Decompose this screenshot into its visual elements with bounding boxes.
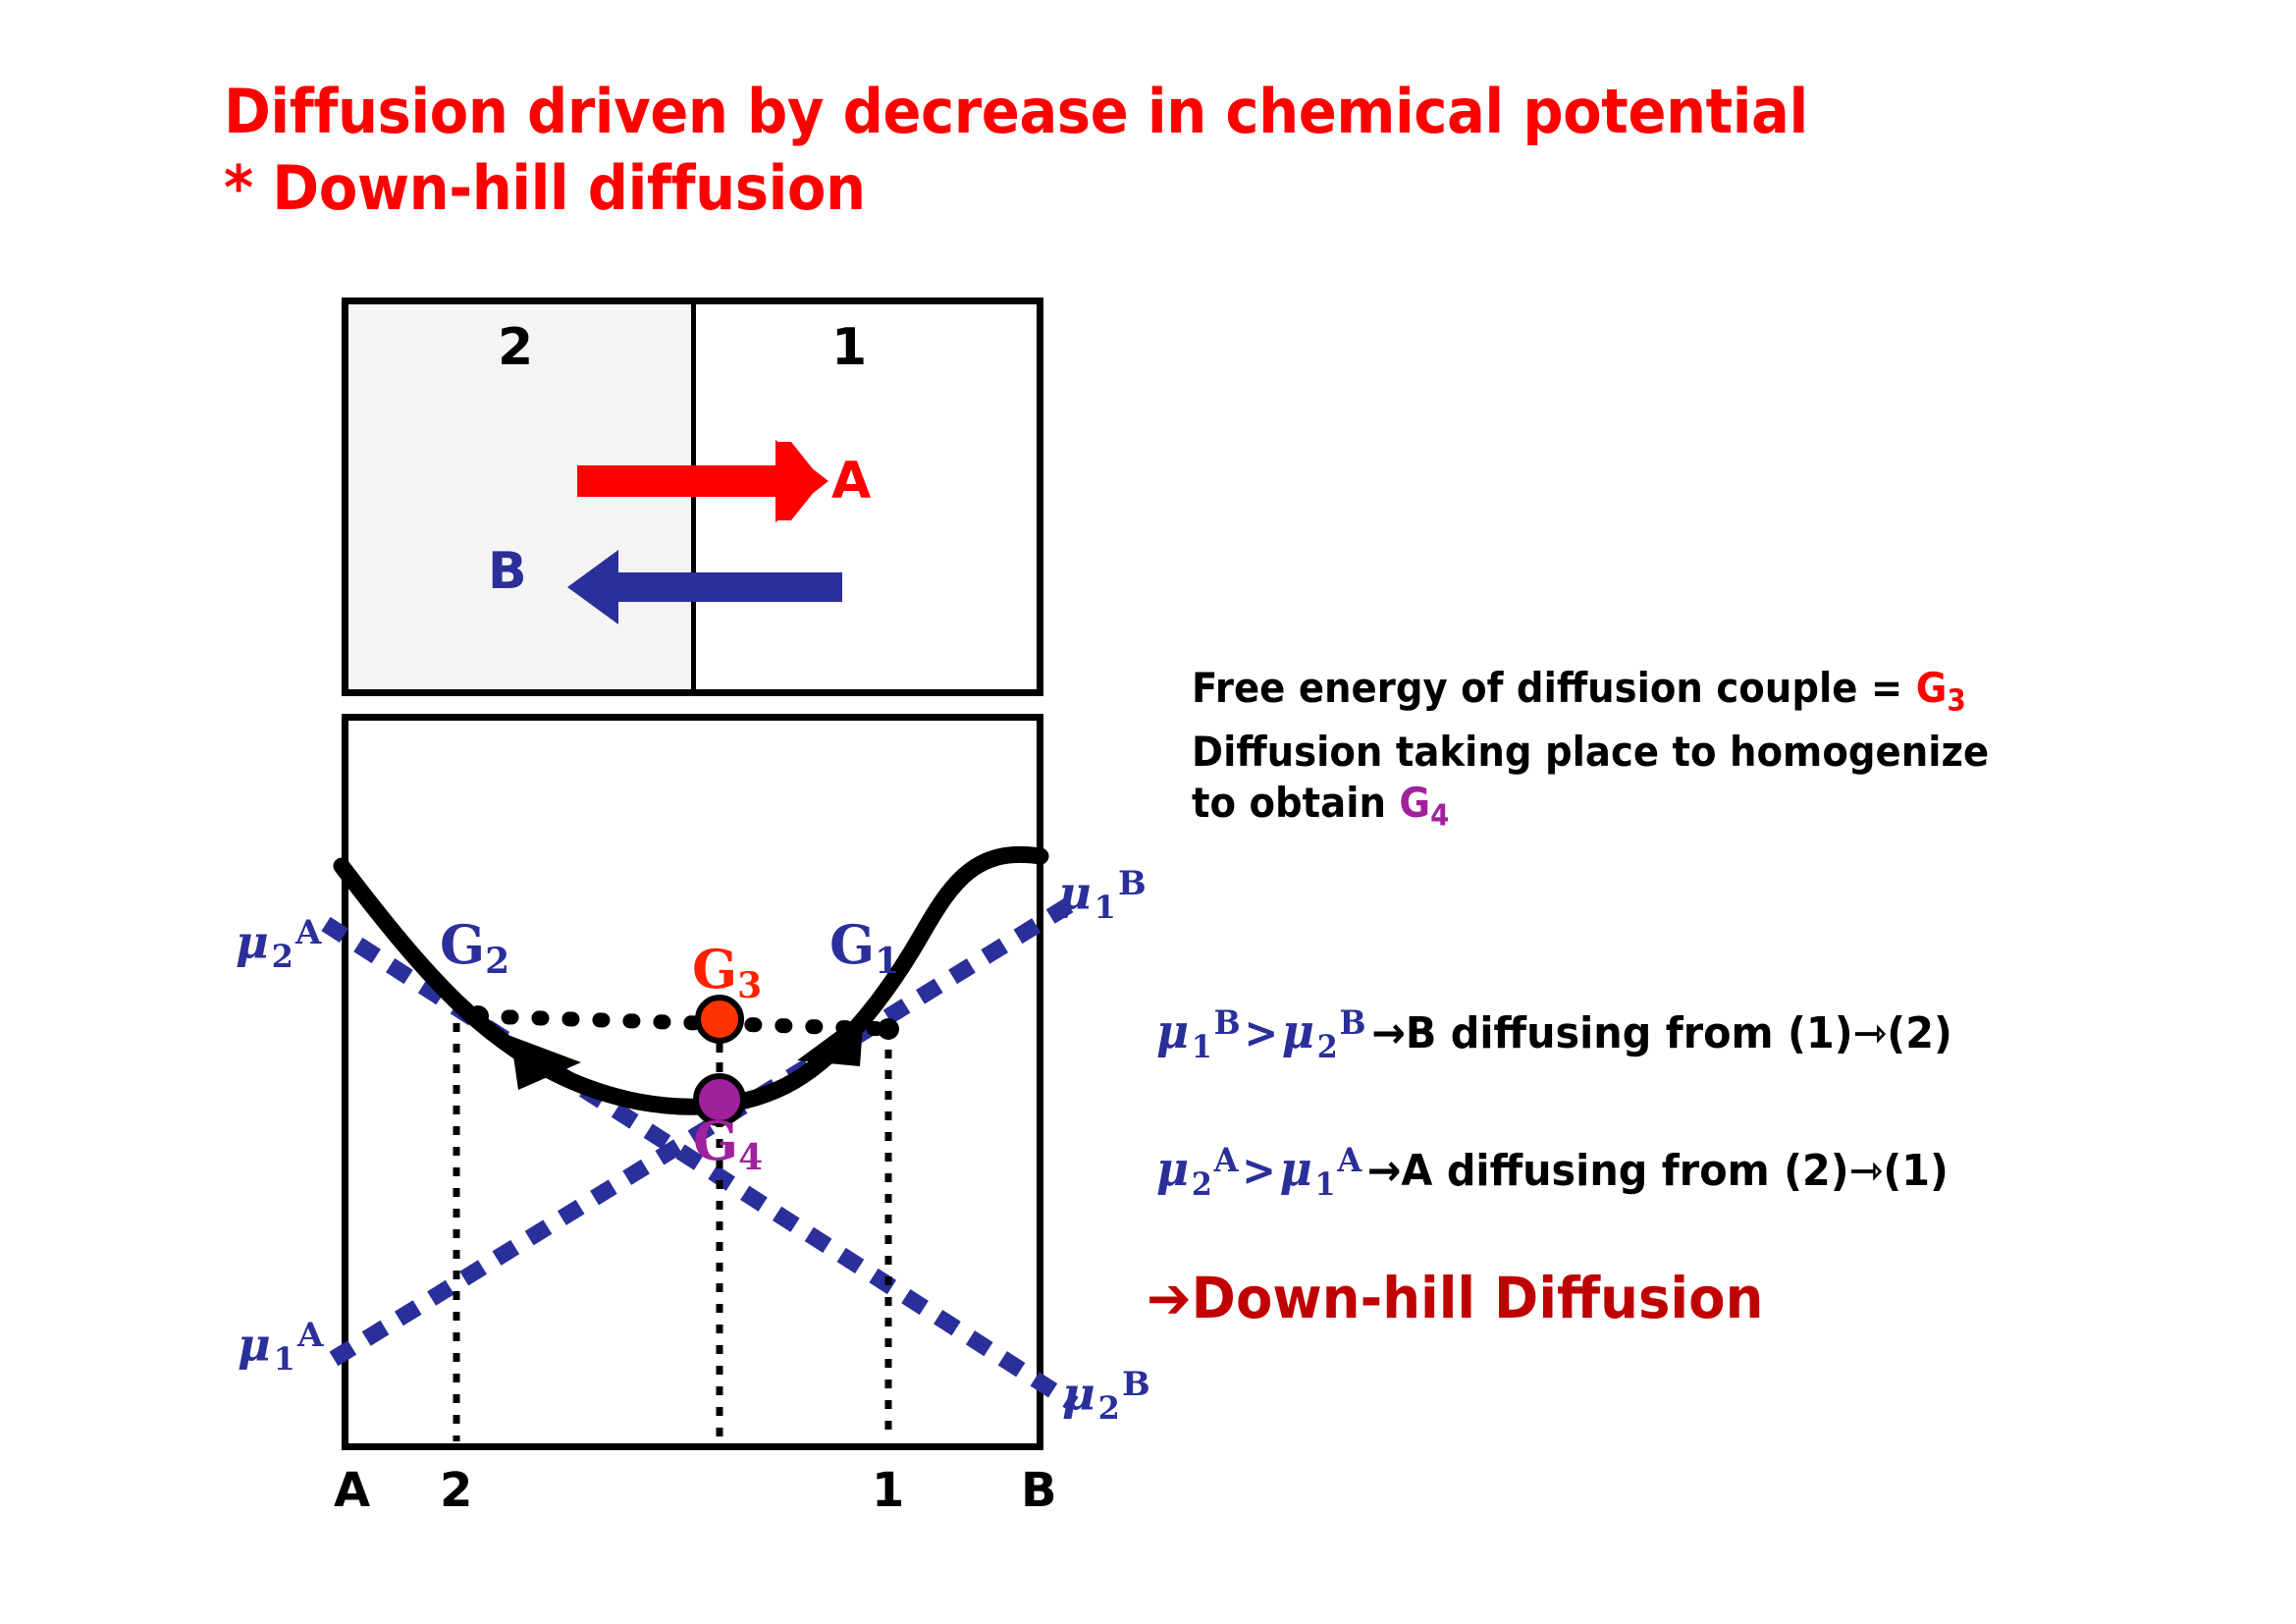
title-line-1: Diffusion driven by decrease in chemical… (224, 74, 2050, 150)
label-g2: G2 (440, 913, 509, 982)
label-mu2A: μ2A (236, 913, 321, 975)
eq2-mu-right: μ1A (1280, 1142, 1362, 1197)
label-mu1A: μ1A (238, 1316, 323, 1378)
free-energy-graph-frame (342, 714, 1043, 1450)
label-mu2B: μ2B (1062, 1365, 1150, 1427)
eq1-relation: > (1241, 1008, 1282, 1058)
couple-interface-line (691, 304, 696, 689)
note-line-1: Free energy of diffusion couple = G3 (1192, 663, 2149, 727)
conclusion-text: ➔Down-hill Diffusion (1147, 1265, 1763, 1331)
label-g4: G4 (693, 1110, 763, 1178)
region-label-2: 2 (498, 318, 533, 377)
equation-row-b: μ1B>μ2B→B diffusing from (1)⇾(2) (1156, 1003, 1952, 1065)
axis-tick-2: 2 (440, 1463, 472, 1518)
species-label-a: A (831, 452, 871, 511)
title-line-2: * Down-hill diffusion (224, 150, 2050, 227)
eq1-statement: →B diffusing from (1)⇾(2) (1366, 1008, 1952, 1058)
note-line-3: to obtain G4 (1192, 778, 2149, 841)
label-g1: G1 (829, 913, 899, 982)
note-line-2: Diffusion taking place to homogenize (1192, 727, 2149, 778)
label-g3: G3 (692, 938, 762, 1006)
notes-block: Free energy of diffusion couple = G3 Dif… (1192, 663, 2232, 842)
eq1-mu-right: μ2B (1282, 1004, 1366, 1059)
eq2-mu-left: μ2A (1156, 1142, 1238, 1197)
eq2-relation: > (1238, 1146, 1279, 1196)
label-mu1B: μ1B (1058, 864, 1147, 926)
eq2-statement: →A diffusing from (2)⇾(1) (1362, 1146, 1949, 1196)
axis-tick-A: A (334, 1463, 370, 1518)
slide-canvas: Diffusion driven by decrease in chemical… (0, 0, 2296, 1624)
axis-tick-B: B (1021, 1463, 1057, 1518)
axis-tick-1: 1 (872, 1463, 904, 1518)
eq1-mu-left: μ1B (1156, 1004, 1241, 1059)
equation-row-a: μ2A>μ1A→A diffusing from (2)⇾(1) (1156, 1141, 1949, 1203)
region-label-1: 1 (831, 318, 867, 377)
species-label-b: B (488, 542, 527, 601)
diffusion-couple-box: 2 1 (342, 298, 1043, 696)
title-block: Diffusion driven by decrease in chemical… (224, 74, 2187, 227)
